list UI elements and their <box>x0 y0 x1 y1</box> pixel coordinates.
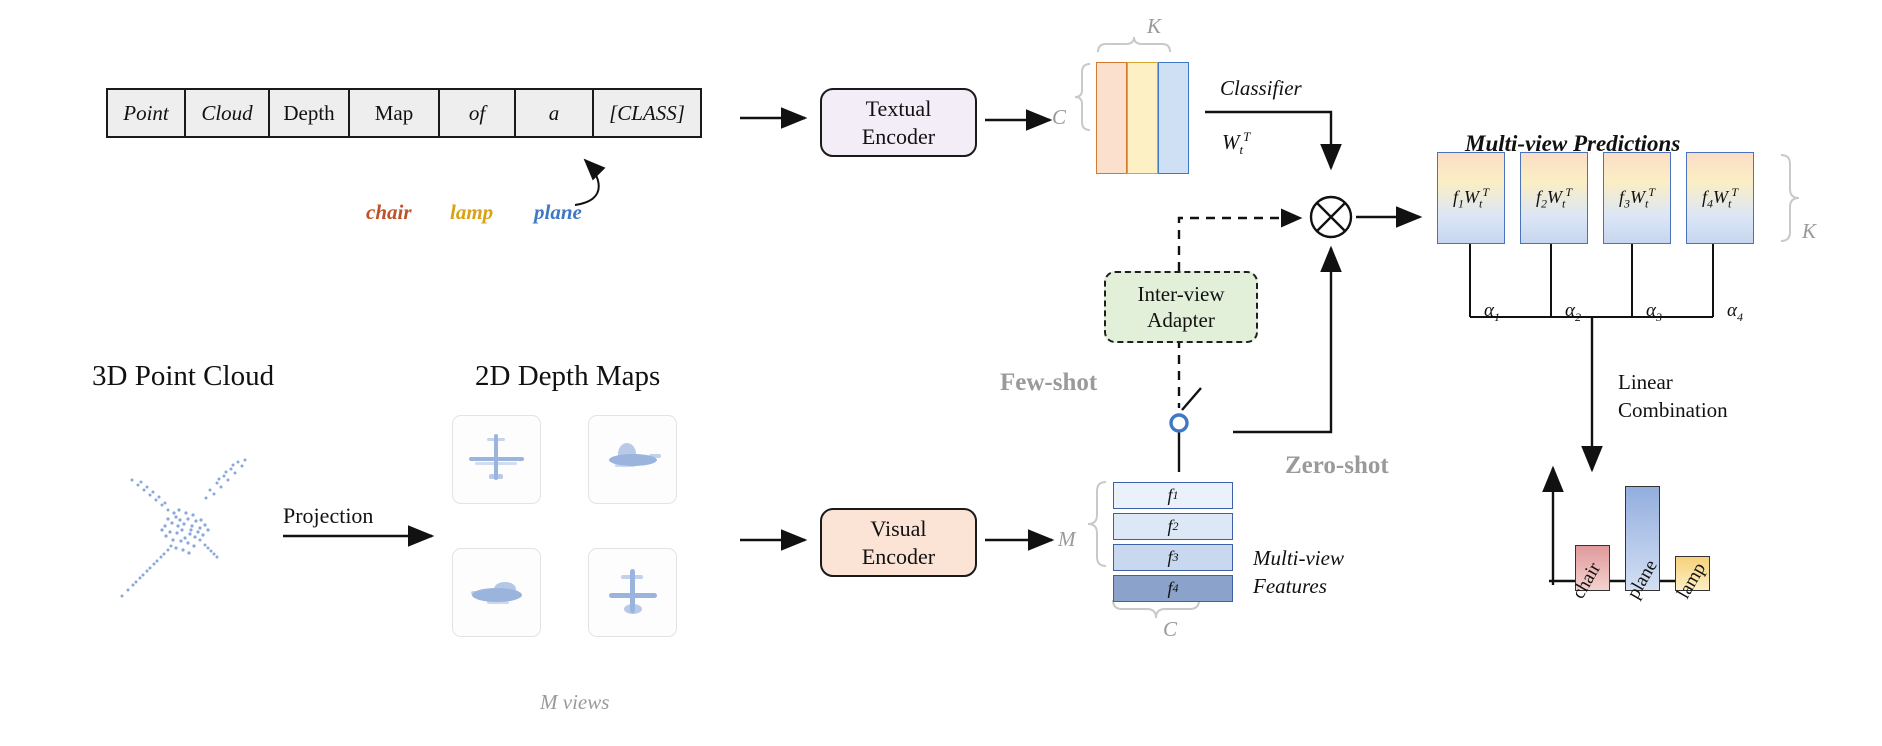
pred-wsup-2: T <box>1565 185 1572 199</box>
multi-view-feature-stack: f1 f2 f3 f4 <box>1113 482 1233 606</box>
weights-subscript: t <box>1240 142 1244 157</box>
classifier-title: Classifier <box>1220 76 1302 101</box>
inter-view-adapter-box[interactable]: Inter-view Adapter <box>1104 271 1258 343</box>
alpha-label-4: α4 <box>1727 300 1743 325</box>
matrix-column-chair <box>1096 62 1127 174</box>
dim-label-k-right: K <box>1802 219 1816 244</box>
textual-encoder-box: Textual Encoder <box>820 88 977 157</box>
feature-sub-3: 3 <box>1173 550 1179 565</box>
linear-combination-line1: Linear <box>1618 370 1673 394</box>
weights-superscript: T <box>1243 129 1250 144</box>
point-cloud-title: 3D Point Cloud <box>92 360 274 393</box>
alpha-label-1: α1 <box>1484 300 1500 325</box>
multi-view-features-caption: Multi-view Features <box>1253 544 1344 601</box>
alpha-sub-2: 2 <box>1575 310 1581 324</box>
alpha-label-2: α2 <box>1565 300 1581 325</box>
feature-row-3: f3 <box>1113 544 1233 571</box>
brace-k-top <box>1098 37 1170 52</box>
feature-row-4: f4 <box>1113 575 1233 602</box>
matrix-column-plane <box>1158 62 1189 174</box>
prediction-box-4: f4WtT <box>1686 152 1754 244</box>
depth-map-thumbnail-2 <box>588 415 677 504</box>
alpha-sub-4: 4 <box>1737 310 1743 324</box>
dim-label-k-top: K <box>1147 14 1161 39</box>
pred-wsup-1: T <box>1482 185 1489 199</box>
features-caption-line2: Features <box>1253 574 1327 598</box>
depth-map-thumbnail-1 <box>452 415 541 504</box>
pred-w-1: W <box>1464 187 1479 207</box>
m-views-caption: M views <box>540 690 609 715</box>
zero-shot-label: Zero-shot <box>1285 452 1389 480</box>
feature-row-1: f1 <box>1113 482 1233 509</box>
dashed-adapter-to-mul <box>1179 218 1300 271</box>
pred-wsup-3: T <box>1648 185 1655 199</box>
brace-c-left <box>1075 64 1090 130</box>
adapter-line1: Inter-view <box>1137 282 1224 306</box>
depth-map-thumbnail-4 <box>588 548 677 637</box>
pred-w-4: W <box>1713 187 1728 207</box>
matrix-column-lamp <box>1127 62 1158 174</box>
classifier-matrix <box>1096 62 1189 172</box>
switch-lever <box>1182 388 1201 410</box>
alpha-sub-3: 3 <box>1656 310 1662 324</box>
visual-encoder-line1: Visual <box>870 516 926 541</box>
feature-sub-4: 4 <box>1173 581 1179 596</box>
visual-encoder-line2: Encoder <box>862 544 935 569</box>
weights-symbol: W <box>1222 130 1240 154</box>
class-curve-arrow <box>575 160 599 205</box>
linear-combination-line2: Combination <box>1618 398 1728 422</box>
alpha-sym-3: α <box>1646 300 1656 321</box>
alpha-sym-4: α <box>1727 300 1737 321</box>
feature-sub-1: 1 <box>1173 488 1179 503</box>
depth-maps-title: 2D Depth Maps <box>475 360 660 393</box>
depth-map-render-1 <box>453 416 540 503</box>
feature-row-2: f2 <box>1113 513 1233 540</box>
depth-map-thumbnail-3 <box>452 548 541 637</box>
features-caption-line1: Multi-view <box>1253 546 1344 570</box>
point-cloud-illustration <box>70 420 290 620</box>
prediction-box-2: f2WtT <box>1520 152 1588 244</box>
alpha-sub-1: 1 <box>1494 310 1500 324</box>
linear-combination-label: Linear Combination <box>1618 368 1728 425</box>
alpha-sym-1: α <box>1484 300 1494 321</box>
depth-map-render-3 <box>453 549 540 636</box>
projection-label: Projection <box>283 503 373 529</box>
feature-sub-2: 2 <box>1173 519 1179 534</box>
prediction-box-1: f1WtT <box>1437 152 1505 244</box>
classifier-weights: WtT <box>1222 129 1250 158</box>
textual-encoder-line2: Encoder <box>862 124 935 149</box>
pred-w-2: W <box>1547 187 1562 207</box>
brace-k-right <box>1781 155 1799 241</box>
textual-encoder-line1: Textual <box>866 96 932 121</box>
brace-m-left <box>1088 482 1106 566</box>
alpha-sym-2: α <box>1565 300 1575 321</box>
adapter-line2: Adapter <box>1147 308 1215 332</box>
depth-map-render-2 <box>589 416 676 503</box>
dim-label-m: M <box>1058 527 1076 552</box>
visual-encoder-box: Visual Encoder <box>820 508 977 577</box>
dim-label-c-left: C <box>1052 105 1066 130</box>
few-shot-label: Few-shot <box>1000 369 1097 397</box>
switch-pivot <box>1171 415 1187 431</box>
pred-wsup-4: T <box>1731 185 1738 199</box>
pred-w-3: W <box>1630 187 1645 207</box>
prediction-box-3: f3WtT <box>1603 152 1671 244</box>
depth-map-render-4 <box>589 549 676 636</box>
dim-label-c-bottom: C <box>1163 617 1177 642</box>
multi-view-predictions: f1WtT f2WtT f3WtT f4WtT <box>1437 152 1754 244</box>
alpha-label-3: α3 <box>1646 300 1662 325</box>
